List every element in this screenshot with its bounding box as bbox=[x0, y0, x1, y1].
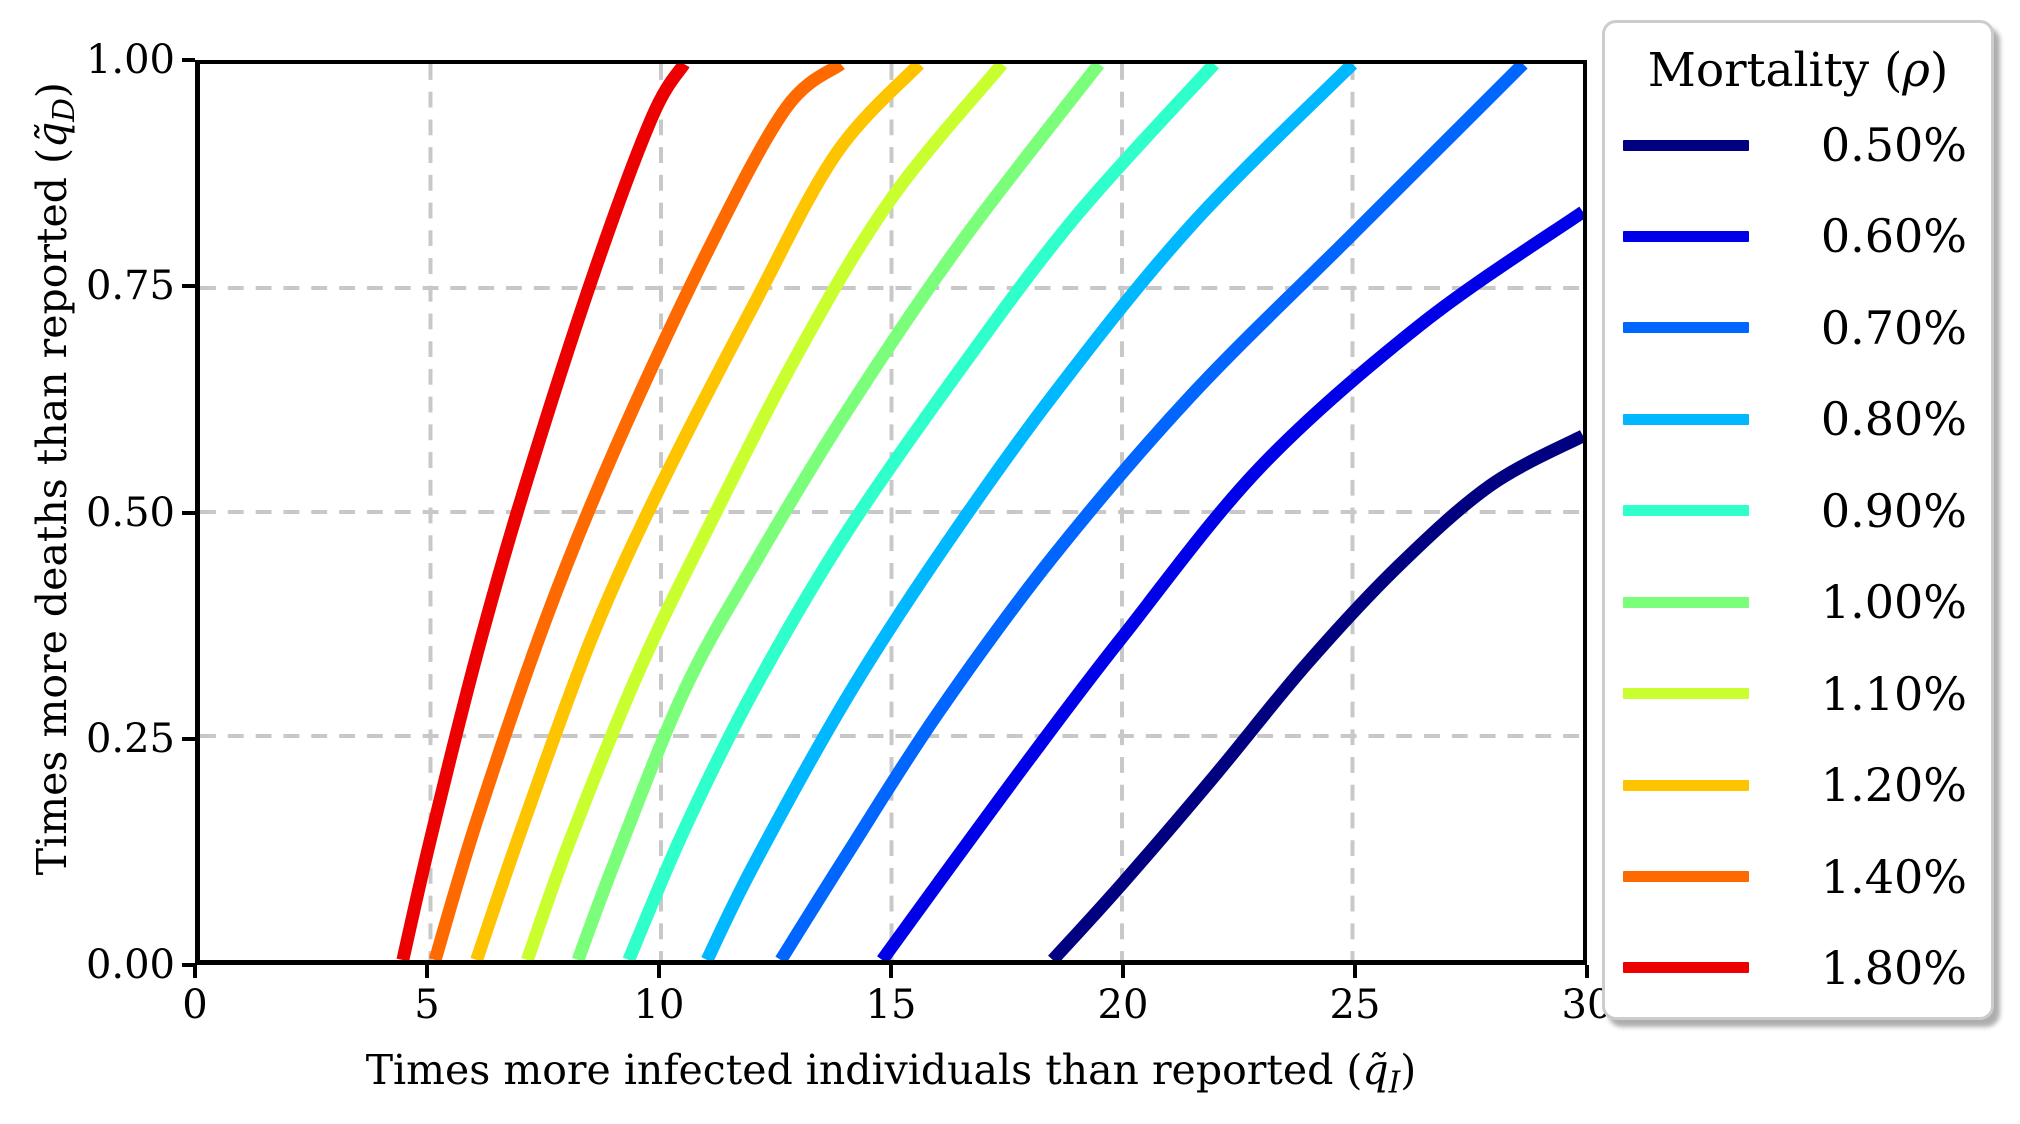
legend-title-symbol: ρ bbox=[1902, 43, 1930, 98]
x-axis-label-text: Times more infected individuals than rep… bbox=[366, 1046, 1363, 1094]
y-axis-label-close: ) bbox=[28, 82, 76, 98]
legend-item[interactable]: 1.10% bbox=[1623, 659, 1973, 729]
data-series-layer bbox=[200, 64, 1583, 960]
series-line bbox=[527, 64, 1002, 960]
plot-area bbox=[195, 60, 1587, 965]
y-axis-label-sub: D bbox=[47, 98, 81, 122]
y-tick-label: 1.00 bbox=[86, 40, 175, 80]
legend-title: Mortality (ρ) bbox=[1623, 47, 1973, 94]
legend-color-swatch bbox=[1623, 414, 1749, 425]
legend-items: 0.50%0.60%0.70%0.80%0.90%1.00%1.10%1.20%… bbox=[1623, 110, 1973, 1003]
legend-box: Mortality (ρ) 0.50%0.60%0.70%0.80%0.90%1… bbox=[1602, 20, 1994, 1020]
legend-title-close: ) bbox=[1930, 43, 1948, 98]
legend-item-label: 0.90% bbox=[1749, 488, 1973, 534]
y-tick-mark bbox=[182, 284, 195, 288]
legend-color-swatch bbox=[1623, 140, 1749, 151]
x-tick-mark bbox=[425, 965, 429, 978]
legend-item-label: 1.40% bbox=[1749, 854, 1973, 900]
legend-color-swatch bbox=[1623, 871, 1749, 882]
legend-item-label: 0.60% bbox=[1749, 213, 1973, 259]
y-axis-label-var: q̃ bbox=[28, 122, 76, 148]
x-tick-label: 5 bbox=[414, 985, 439, 1025]
y-tick-label: 0.25 bbox=[86, 719, 175, 759]
x-axis-label-close: ) bbox=[1400, 1046, 1416, 1094]
y-tick-mark bbox=[182, 963, 195, 967]
legend-item[interactable]: 0.90% bbox=[1623, 476, 1973, 546]
legend-item-label: 1.10% bbox=[1749, 671, 1973, 717]
legend-color-swatch bbox=[1623, 505, 1749, 516]
x-axis-label-sub: I bbox=[1389, 1065, 1401, 1099]
legend-item[interactable]: 1.00% bbox=[1623, 567, 1973, 637]
legend-item[interactable]: 1.40% bbox=[1623, 842, 1973, 912]
legend-color-swatch bbox=[1623, 231, 1749, 242]
chart-figure: 0510152025300.000.250.500.751.00 Times m… bbox=[0, 0, 2020, 1124]
x-tick-label: 10 bbox=[634, 985, 685, 1025]
legend-item-label: 0.80% bbox=[1749, 396, 1973, 442]
y-tick-label: 0.00 bbox=[86, 945, 175, 985]
legend-item[interactable]: 1.80% bbox=[1623, 933, 1973, 1003]
x-tick-mark bbox=[889, 965, 893, 978]
series-line bbox=[578, 64, 1099, 960]
legend-item[interactable]: 0.60% bbox=[1623, 201, 1973, 271]
legend-title-text: Mortality ( bbox=[1648, 43, 1903, 98]
y-axis-label: Times more deaths than reported (q̃D) bbox=[28, 26, 81, 931]
y-tick-mark bbox=[182, 737, 195, 741]
x-tick-label: 20 bbox=[1098, 985, 1149, 1025]
legend-item-label: 1.20% bbox=[1749, 762, 1973, 808]
x-tick-label: 0 bbox=[182, 985, 207, 1025]
x-axis-label-var: q̃ bbox=[1362, 1046, 1388, 1094]
legend-color-swatch bbox=[1623, 780, 1749, 791]
x-tick-mark bbox=[1121, 965, 1125, 978]
y-tick-mark bbox=[182, 58, 195, 62]
series-line bbox=[1053, 436, 1583, 960]
legend-color-swatch bbox=[1623, 962, 1749, 973]
legend-color-swatch bbox=[1623, 688, 1749, 699]
legend-item-label: 1.00% bbox=[1749, 579, 1973, 625]
legend-item-label: 1.80% bbox=[1749, 945, 1973, 991]
x-tick-label: 25 bbox=[1330, 985, 1381, 1025]
x-tick-mark bbox=[657, 965, 661, 978]
x-tick-mark bbox=[1353, 965, 1357, 978]
legend-item[interactable]: 1.20% bbox=[1623, 750, 1973, 820]
legend-item-label: 0.50% bbox=[1749, 122, 1973, 168]
legend-item[interactable]: 0.50% bbox=[1623, 110, 1973, 180]
legend-item[interactable]: 0.80% bbox=[1623, 384, 1973, 454]
x-tick-label: 15 bbox=[866, 985, 917, 1025]
y-tick-label: 0.75 bbox=[86, 266, 175, 306]
y-tick-label: 0.50 bbox=[86, 493, 175, 533]
legend-color-swatch bbox=[1623, 597, 1749, 608]
legend-item[interactable]: 0.70% bbox=[1623, 293, 1973, 363]
x-tick-mark bbox=[1585, 965, 1589, 978]
y-tick-mark bbox=[182, 511, 195, 515]
legend-color-swatch bbox=[1623, 322, 1749, 333]
y-axis-label-text: Times more deaths than reported ( bbox=[28, 148, 76, 875]
legend-item-label: 0.70% bbox=[1749, 305, 1973, 351]
x-axis-label: Times more infected individuals than rep… bbox=[195, 1046, 1587, 1099]
